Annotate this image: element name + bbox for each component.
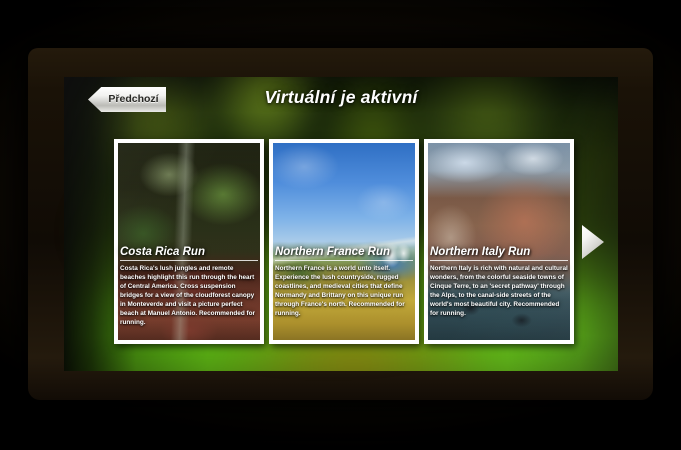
- run-card-list: Costa Rica Run Costa Rica's lush jungles…: [114, 139, 574, 344]
- next-page-button[interactable]: [582, 225, 604, 259]
- card-title: Northern France Run: [275, 246, 413, 261]
- card-title: Northern Italy Run: [430, 246, 568, 261]
- card-description: Costa Rica's lush jungles and remote bea…: [120, 264, 258, 328]
- next-arrow-icon: [582, 225, 604, 259]
- card-text-block: Costa Rica Run Costa Rica's lush jungles…: [114, 246, 264, 332]
- run-card-northern-italy[interactable]: Northern Italy Run Northern Italy is ric…: [424, 139, 574, 344]
- run-card-costa-rica[interactable]: Costa Rica Run Costa Rica's lush jungles…: [114, 139, 264, 344]
- page-title: Virtuální je aktivní: [64, 87, 618, 108]
- screen-viewport: Předchozí Virtuální je aktivní Costa Ric…: [64, 77, 618, 371]
- card-description: Northern France is a world unto itself. …: [275, 264, 413, 319]
- card-title: Costa Rica Run: [120, 246, 258, 261]
- app-header: Předchozí Virtuální je aktivní: [64, 77, 618, 129]
- card-description: Northern Italy is rich with natural and …: [430, 264, 568, 319]
- card-text-block: Northern France Run Northern France is a…: [269, 246, 419, 323]
- card-text-block: Northern Italy Run Northern Italy is ric…: [424, 246, 574, 323]
- run-card-northern-france[interactable]: Northern France Run Northern France is a…: [269, 139, 419, 344]
- photographed-monitor: Předchozí Virtuální je aktivní Costa Ric…: [0, 0, 681, 450]
